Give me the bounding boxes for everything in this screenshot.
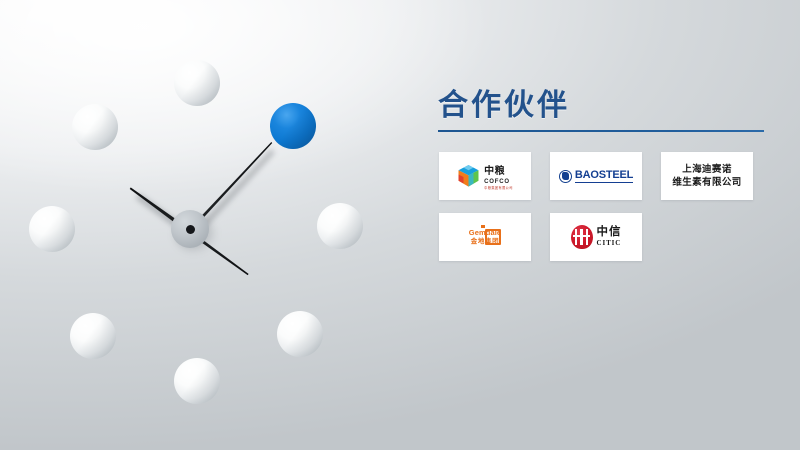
partners-section: 合作伙伴: [430, 90, 780, 261]
cofco-cube-icon: [457, 164, 480, 188]
partner-card-baosteel[interactable]: BAOSTEEL: [550, 152, 642, 200]
clock-marker-1-accent: [270, 103, 316, 149]
partner-logo-grid: 中粮 COFCO 中粮集团有限公司 BAOSTEEL 上海迪赛诺 维生素有限公司: [439, 152, 780, 261]
partner-card-gemdale[interactable]: Gemdale 金地集团: [439, 213, 531, 261]
gemdale-logo: Gemdale 金地集团: [469, 229, 501, 246]
citic-wordmark: 中信 CITIC: [597, 227, 622, 248]
citic-logo: 中信 CITIC: [571, 225, 622, 249]
clock-marker-9: [29, 206, 75, 252]
title-divider: [438, 130, 764, 133]
baosteel-wordmark: BAOSTEEL: [575, 169, 633, 183]
clock-marker-12: [174, 60, 220, 106]
clock-marker-3: [317, 203, 363, 249]
desano-name-line1: 上海迪赛诺: [672, 163, 741, 176]
slide-canvas: 合作伙伴: [0, 0, 800, 450]
clock-marker-6: [174, 358, 220, 404]
cofco-english-name: COFCO: [484, 179, 513, 185]
desano-logo: 上海迪赛诺 维生素有限公司: [672, 163, 741, 190]
wall-clock-image: [0, 0, 420, 450]
clock-marker-8: [70, 313, 116, 359]
clock-center-pin: [186, 225, 195, 234]
clock-marker-10: [72, 104, 118, 150]
baosteel-emblem-icon: [559, 170, 572, 183]
page-title: 合作伙伴: [430, 90, 780, 122]
citic-emblem-icon: [571, 225, 593, 249]
cofco-subtitle: 中粮集团有限公司: [484, 187, 513, 190]
baosteel-logo: BAOSTEEL: [559, 169, 633, 183]
partner-card-citic[interactable]: 中信 CITIC: [550, 213, 642, 261]
clock-marker-4: [277, 311, 323, 357]
citic-english-name: CITIC: [597, 240, 622, 247]
partner-card-desano[interactable]: 上海迪赛诺 维生素有限公司: [661, 152, 753, 200]
partner-card-placeholder: [661, 213, 753, 261]
cofco-wordmark: 中粮 COFCO 中粮集团有限公司: [484, 162, 513, 190]
citic-chinese-name: 中信: [597, 227, 622, 239]
desano-name-line2: 维生素有限公司: [672, 176, 741, 189]
cofco-chinese-name: 中粮: [484, 166, 505, 177]
partner-card-cofco[interactable]: 中粮 COFCO 中粮集团有限公司: [439, 152, 531, 200]
cofco-logo: 中粮 COFCO 中粮集团有限公司: [457, 162, 513, 190]
